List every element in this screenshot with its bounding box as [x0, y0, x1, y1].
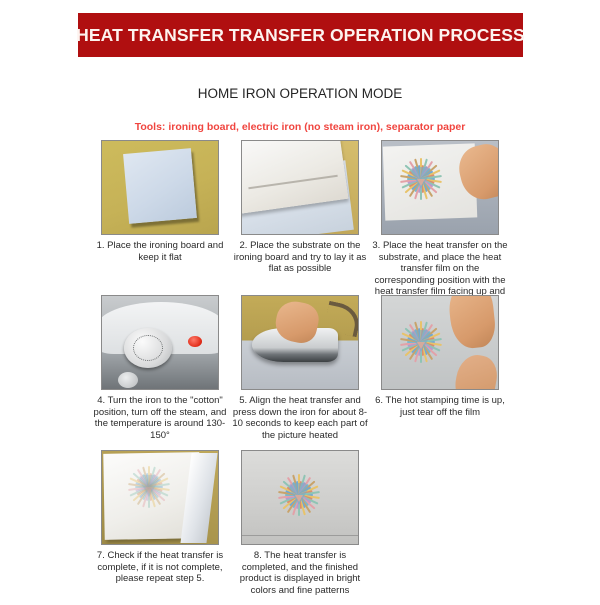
- lion-head-print: [390, 312, 452, 370]
- step-card-7: 7. Check if the heat transfer is complet…: [90, 450, 230, 585]
- finished-product-photo: [241, 450, 359, 545]
- place-transfer-film-photo: [381, 140, 499, 235]
- steps-row-2: 4. Turn the iron to the "cotton" positio…: [90, 295, 510, 450]
- ironing-board-photo: [101, 140, 219, 235]
- indicator-light-icon: [188, 336, 202, 347]
- step-card-4: 4. Turn the iron to the "cotton" positio…: [90, 295, 230, 441]
- cloth-hem-line: [242, 535, 358, 537]
- tools-list: Tools: ironing board, electric iron (no …: [0, 121, 600, 133]
- pressing-iron-photo: [241, 295, 359, 390]
- steps-grid: 1. Place the ironing board and keep it f…: [90, 140, 510, 605]
- check-transfer-photo: [101, 450, 219, 545]
- step-card-2: 2. Place the substrate on the ironing bo…: [230, 140, 370, 275]
- steps-row-3: 7. Check if the heat transfer is complet…: [90, 450, 510, 605]
- temperature-dial: [124, 328, 172, 368]
- substrate-on-board-photo: [241, 140, 359, 235]
- infographic-page: HEAT TRANSFER TRANSFER OPERATION PROCESS…: [0, 0, 600, 600]
- lion-head-print: [390, 149, 452, 207]
- page-title: HEAT TRANSFER TRANSFER OPERATION PROCESS: [76, 25, 525, 46]
- step-card-1: 1. Place the ironing board and keep it f…: [90, 140, 230, 263]
- step-caption-7: 7. Check if the heat transfer is complet…: [92, 550, 228, 585]
- lion-head-print: [268, 465, 330, 523]
- step-caption-8: 8. The heat transfer is completed, and t…: [232, 550, 368, 596]
- step-card-3: 3. Place the heat transfer on the substr…: [370, 140, 510, 309]
- step-caption-6: 6. The hot stamping time is up, just tea…: [372, 395, 508, 418]
- step-caption-5: 5. Align the heat transfer and press dow…: [232, 395, 368, 441]
- peel-off-film-photo: [381, 295, 499, 390]
- lion-head-print: [118, 457, 180, 515]
- step-caption-4: 4. Turn the iron to the "cotton" positio…: [92, 395, 228, 441]
- step-card-5: 5. Align the heat transfer and press dow…: [230, 295, 370, 441]
- step-card-6: 6. The hot stamping time is up, just tea…: [370, 295, 510, 418]
- title-banner: HEAT TRANSFER TRANSFER OPERATION PROCESS: [78, 13, 523, 57]
- step-caption-2: 2. Place the substrate on the ironing bo…: [232, 240, 368, 275]
- hand-icon: [447, 295, 498, 350]
- second-hand-icon: [452, 352, 499, 390]
- subtitle: HOME IRON OPERATION MODE: [0, 86, 600, 101]
- step-card-8: 8. The heat transfer is completed, and t…: [230, 450, 370, 596]
- iron-temperature-dial-photo: [101, 295, 219, 390]
- steam-knob: [118, 372, 138, 388]
- board-surface: [123, 148, 197, 224]
- step-caption-1: 1. Place the ironing board and keep it f…: [92, 240, 228, 263]
- steps-row-1: 1. Place the ironing board and keep it f…: [90, 140, 510, 295]
